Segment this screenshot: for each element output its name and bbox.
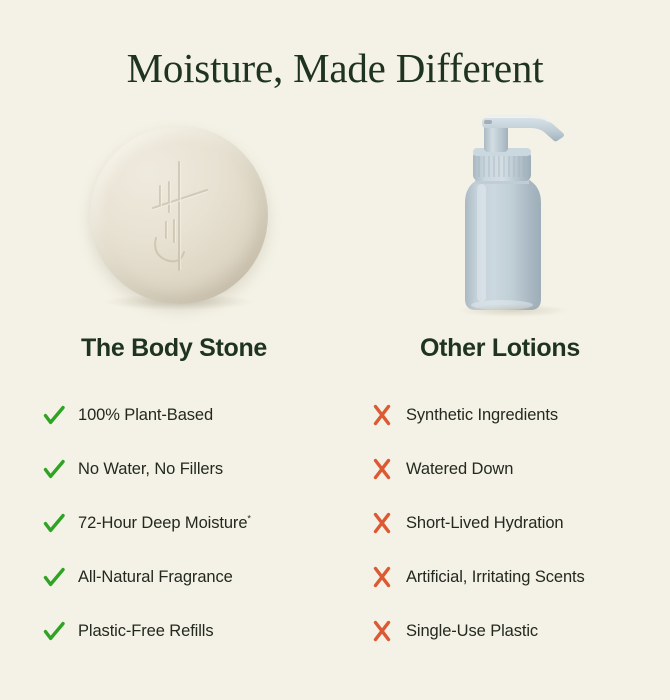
lotion-bottle-graphic (440, 104, 590, 319)
body-stone-bar (90, 126, 268, 304)
check-icon (42, 619, 66, 643)
list-item-label: Plastic-Free Refills (78, 620, 214, 642)
x-icon (370, 457, 394, 481)
list-item-label: Short-Lived Hydration (406, 512, 563, 534)
column-heading-body-stone: The Body Stone (0, 332, 348, 364)
list-item: Synthetic Ingredients (370, 388, 660, 442)
bottle-body (465, 177, 541, 310)
benefit-list-body-stone: 100% Plant-Based No Water, No Fillers 72… (42, 388, 342, 658)
column-headings: The Body Stone Other Lotions (0, 332, 670, 372)
list-item-label: 100% Plant-Based (78, 404, 213, 426)
list-item: No Water, No Fillers (42, 442, 342, 496)
body-stone-logo-emboss (90, 126, 268, 304)
body-stone-image (90, 126, 268, 304)
check-icon (42, 457, 66, 481)
list-item: All-Natural Fragrance (42, 550, 342, 604)
x-icon (370, 403, 394, 427)
x-icon (370, 619, 394, 643)
comparison-lists: 100% Plant-Based No Water, No Fillers 72… (0, 388, 670, 668)
list-item-label: Watered Down (406, 458, 513, 480)
list-item: Plastic-Free Refills (42, 604, 342, 658)
x-icon (370, 511, 394, 535)
list-item: Watered Down (370, 442, 660, 496)
lotion-bottle-drop-shadow (458, 304, 568, 317)
check-icon (42, 565, 66, 589)
list-item: Single-Use Plastic (370, 604, 660, 658)
list-item-label: Artificial, Irritating Scents (406, 566, 585, 588)
check-icon (42, 511, 66, 535)
footnote-asterisk: * (247, 514, 250, 524)
x-icon (370, 565, 394, 589)
comparison-graphic: Moisture, Made Different (0, 0, 670, 700)
drawback-list-other-lotions: Synthetic Ingredients Watered Down Short… (370, 388, 660, 658)
product-image-row (0, 104, 670, 322)
check-icon (42, 403, 66, 427)
list-item-label: 72-Hour Deep Moisture* (78, 512, 251, 534)
list-item-label: No Water, No Fillers (78, 458, 223, 480)
list-item-label: Synthetic Ingredients (406, 404, 558, 426)
list-item: Short-Lived Hydration (370, 496, 660, 550)
list-item: Artificial, Irritating Scents (370, 550, 660, 604)
list-item-label: All-Natural Fragrance (78, 566, 233, 588)
list-item: 72-Hour Deep Moisture* (42, 496, 342, 550)
column-heading-other-lotions: Other Lotions (340, 332, 660, 364)
list-item: 100% Plant-Based (42, 388, 342, 442)
list-item-label: Single-Use Plastic (406, 620, 538, 642)
page-title: Moisture, Made Different (0, 44, 670, 92)
lotion-bottle-image (440, 104, 590, 319)
